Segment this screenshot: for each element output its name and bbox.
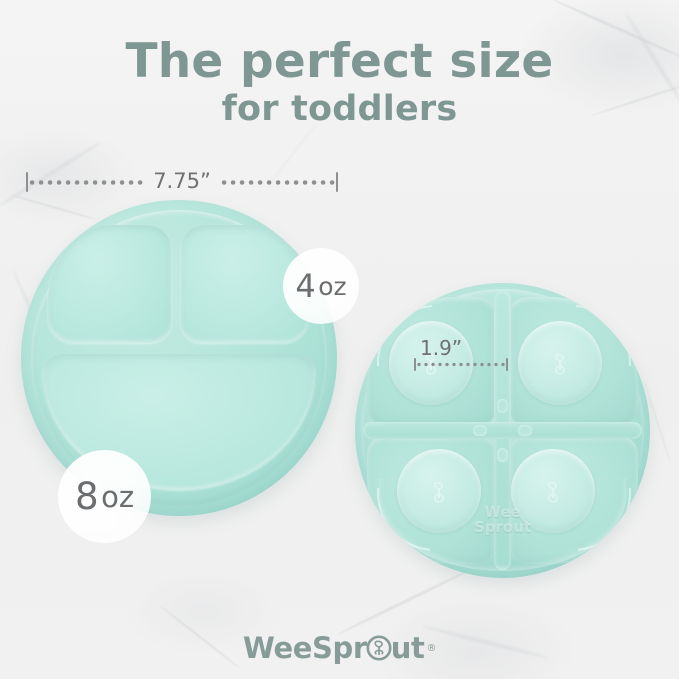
divider-tab	[497, 448, 508, 462]
capacity-badge-8oz: 8 oz	[58, 450, 151, 543]
suction-cup-width-dimension	[414, 358, 508, 371]
capacity-value: 4	[295, 267, 315, 305]
capacity-value: 8	[75, 475, 98, 518]
capacity-unit: oz	[318, 272, 346, 301]
infographic-canvas: The perfect size for toddlers 7.75”	[0, 0, 679, 679]
sprout-emblem-icon	[545, 348, 575, 378]
dimension-dots-left	[28, 178, 144, 187]
embossed-logo-line2: Sprout	[355, 520, 650, 535]
divider-tab	[473, 425, 487, 436]
brand-name-prefix: WeeSpr	[243, 631, 367, 665]
embossed-brand-logo: Wee Sprout	[355, 505, 650, 535]
sprout-logo-icon	[366, 635, 392, 661]
capacity-unit: oz	[101, 480, 134, 514]
divided-plate-back: Wee Sprout	[355, 283, 650, 578]
compartment-top-left	[48, 225, 171, 343]
dimension-dots-right	[220, 178, 336, 187]
suction-cup-top-right	[518, 321, 602, 405]
dimension-cap-right	[506, 358, 508, 371]
capacity-badge-4oz: 4 oz	[283, 248, 359, 324]
plate-width-label: 7.75”	[144, 169, 220, 193]
divider-horizontal	[363, 422, 642, 439]
suction-cup-width-label: 1.9”	[420, 336, 462, 360]
brand-name-suffix: ut	[391, 631, 425, 665]
dimension-dots	[416, 361, 506, 368]
page-subtitle: for toddlers	[0, 92, 679, 127]
plate-width-dimension: 7.75”	[26, 170, 338, 194]
marble-vein	[337, 567, 473, 635]
marble-vein	[9, 194, 96, 221]
registered-trademark: ®	[426, 643, 436, 654]
brand-logo: WeeSpr ut ®	[0, 631, 679, 665]
dimension-cap-right	[336, 172, 338, 192]
page-title: The perfect size	[0, 38, 679, 85]
divider-tab	[518, 425, 532, 436]
divider-tab	[497, 399, 508, 413]
